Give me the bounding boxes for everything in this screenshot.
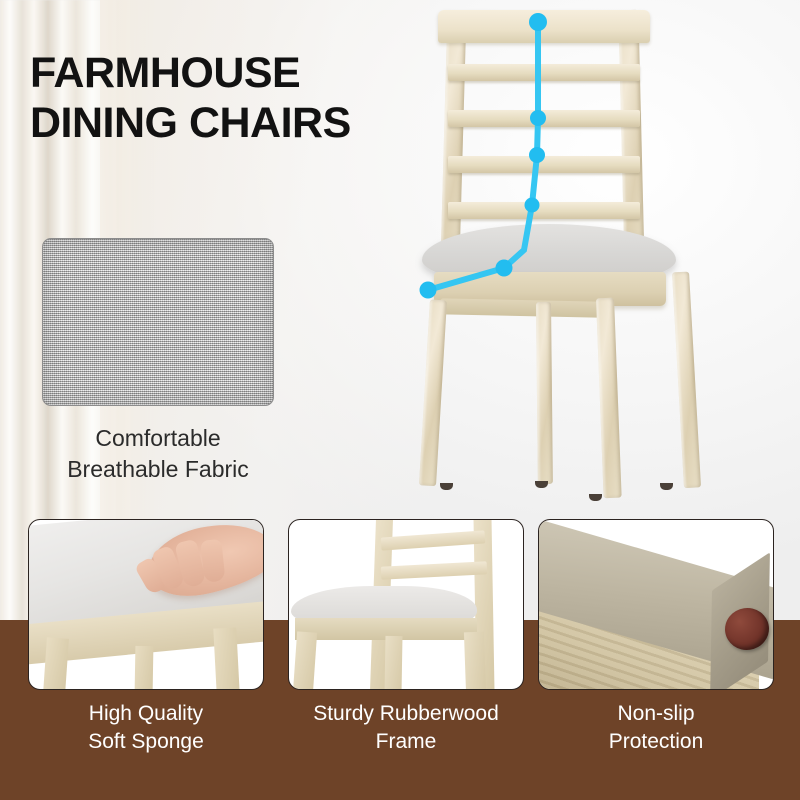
ergonomic-dot <box>529 13 547 31</box>
chair-leg-image <box>293 631 317 690</box>
feature-card-non-slip[interactable] <box>538 519 774 690</box>
caption-line-1: Sturdy Rubberwood <box>313 702 499 725</box>
page-title: FARMHOUSE DINING CHAIRS <box>30 48 460 149</box>
feature-card-rubberwood-frame[interactable] <box>288 519 524 690</box>
ergonomic-dot <box>530 110 546 126</box>
title-line-2: DINING CHAIRS <box>30 98 460 148</box>
backrest-slat-image <box>381 561 488 580</box>
caption-line-2: Frame <box>376 730 437 753</box>
caption-line-2: Soft Sponge <box>88 730 204 753</box>
caption-line-1: Non-slip <box>617 702 694 725</box>
ergonomic-curve-overlay <box>400 0 730 520</box>
fabric-caption-line-1: Comfortable <box>95 425 220 451</box>
chair-leg-image <box>135 646 154 690</box>
fabric-swatch-image <box>42 238 274 406</box>
chair-leg-image <box>213 627 239 690</box>
hero-chair-image <box>400 0 730 520</box>
backrest-slat-image <box>381 530 486 550</box>
chair-leg-image <box>464 632 486 690</box>
ergonomic-dot <box>525 198 540 213</box>
fabric-caption-line-2: Breathable Fabric <box>67 456 249 482</box>
feature-caption-soft-sponge: High Quality Soft Sponge <box>28 700 264 755</box>
ergonomic-dot <box>496 260 513 277</box>
feature-caption-rubberwood-frame: Sturdy Rubberwood Frame <box>288 700 524 755</box>
title-line-1: FARMHOUSE <box>30 49 300 97</box>
fabric-caption: Comfortable Breathable Fabric <box>28 423 288 485</box>
fabric-feature: Comfortable Breathable Fabric <box>42 238 288 485</box>
caption-line-1: High Quality <box>89 702 203 725</box>
ergonomic-dot <box>529 147 545 163</box>
caption-line-2: Protection <box>609 730 704 753</box>
feature-card-soft-sponge[interactable] <box>28 519 264 690</box>
feature-caption-non-slip: Non-slip Protection <box>538 700 774 755</box>
chair-leg-image <box>384 636 402 690</box>
product-infographic: FARMHOUSE DINING CHAIRS Comfortable Brea… <box>0 0 800 800</box>
ergonomic-dot <box>420 282 437 299</box>
chair-leg-image <box>43 637 69 690</box>
